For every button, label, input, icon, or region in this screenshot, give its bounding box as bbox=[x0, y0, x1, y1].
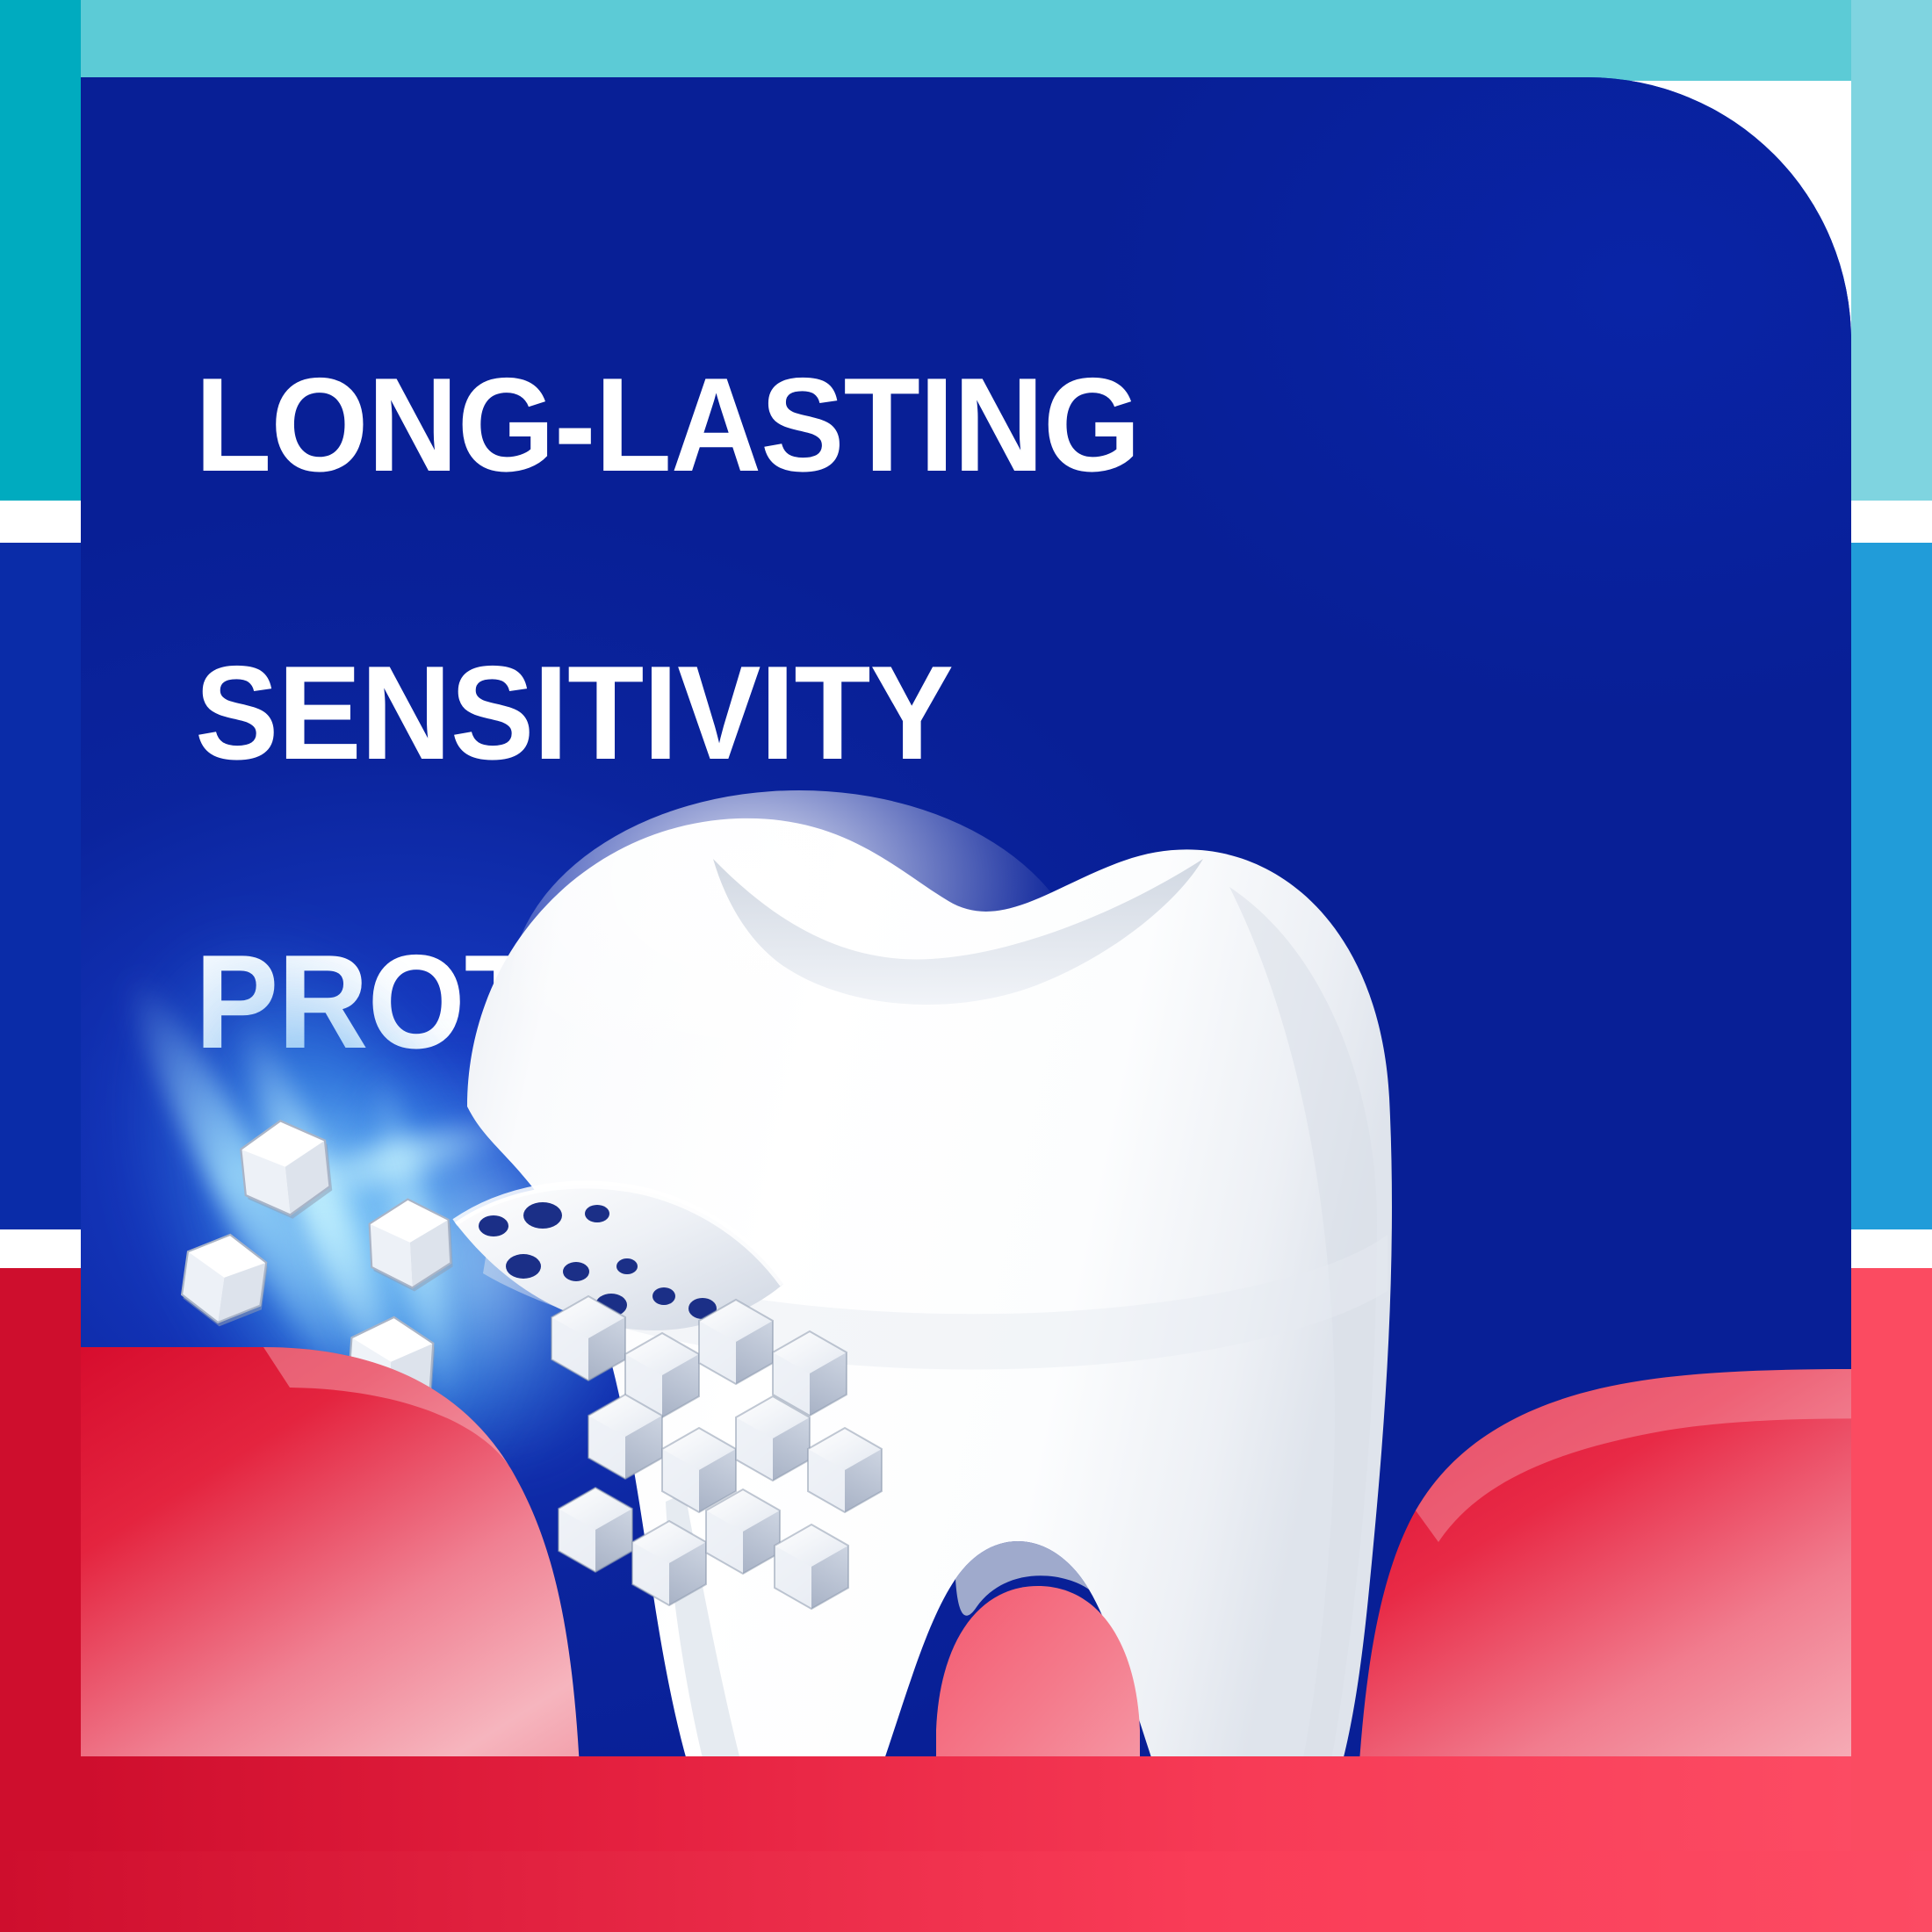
border-left-white-band-2 bbox=[0, 1229, 81, 1268]
border-right-pink bbox=[1851, 1268, 1932, 1932]
main-blue-panel: LONG-LASTING SENSITIVITY PROTECTION bbox=[81, 77, 1851, 1851]
border-bottom-red-gradient bbox=[0, 1851, 1932, 1932]
tubule-hole-icon bbox=[585, 1205, 609, 1222]
gum-floor bbox=[81, 1756, 1851, 1851]
border-right-blue bbox=[1851, 543, 1932, 1229]
product-feature-card: LONG-LASTING SENSITIVITY PROTECTION bbox=[0, 0, 1932, 1932]
headline-line-1: LONG-LASTING bbox=[195, 353, 1433, 497]
border-right-white-band-2 bbox=[1851, 1229, 1932, 1268]
border-left-teal bbox=[0, 0, 81, 501]
floating-crystal-1 bbox=[225, 1108, 346, 1229]
border-left-white-band bbox=[0, 501, 81, 543]
border-left-red bbox=[0, 1268, 81, 1932]
border-right-white-band bbox=[1851, 501, 1932, 543]
border-top-teal bbox=[0, 0, 1932, 81]
hexagon-crystal-icon bbox=[808, 1428, 882, 1512]
border-right-light-teal bbox=[1851, 0, 1932, 501]
hexagon-crystal-icon bbox=[238, 1116, 335, 1223]
border-left-blue bbox=[0, 543, 81, 1229]
tubule-hole-icon bbox=[523, 1202, 562, 1229]
tubule-hole-icon bbox=[479, 1215, 508, 1236]
